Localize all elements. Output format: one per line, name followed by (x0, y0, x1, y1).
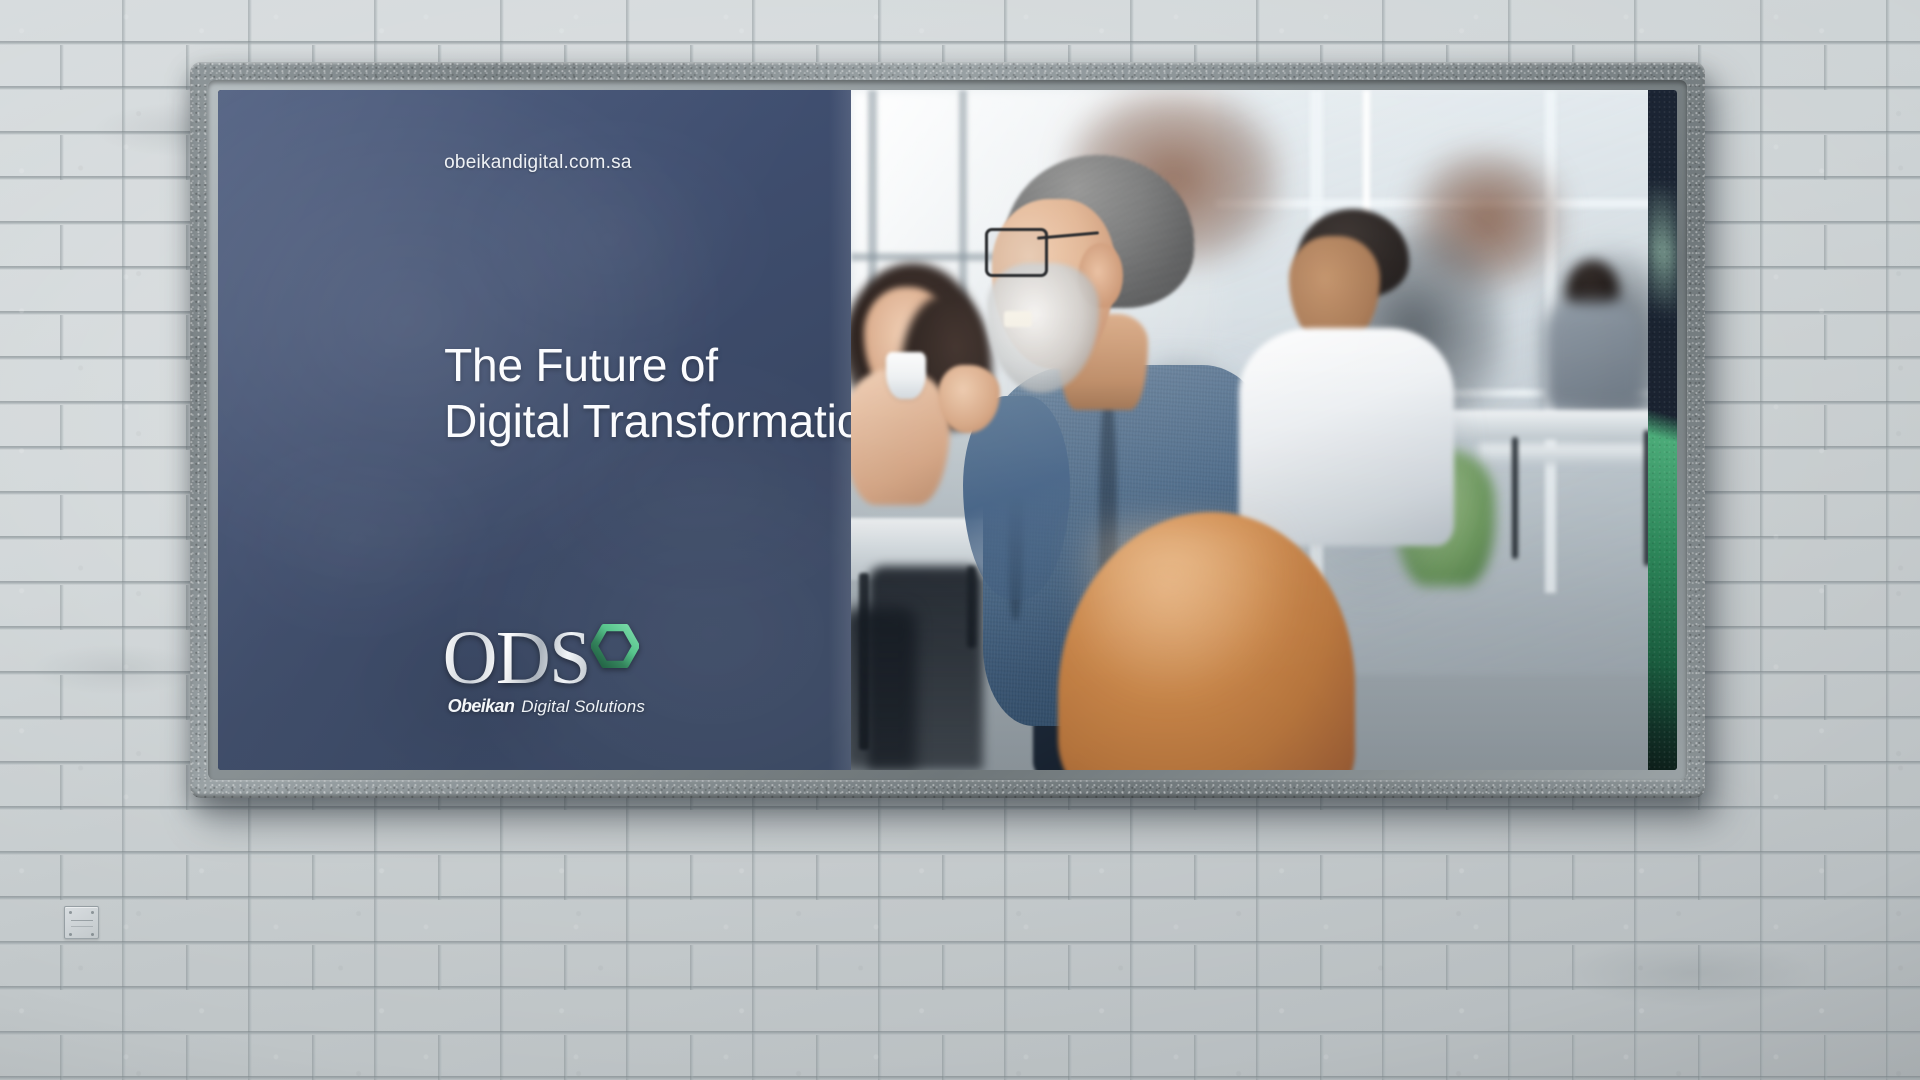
desk-leg (1512, 437, 1518, 559)
orange-chair-highlight (1082, 525, 1297, 702)
office-photograph (851, 90, 1677, 770)
background-person-body (1545, 301, 1644, 410)
woman-cup (886, 352, 926, 400)
man-eyeglasses (985, 228, 1048, 277)
logo-tagline-brand: Obeikan (448, 696, 515, 717)
accent-band-grain (1648, 90, 1677, 770)
billboard[interactable]: obeikandigital.com.sa The Future of Digi… (190, 62, 1705, 798)
headline-line-2: Digital Transformation (444, 393, 887, 449)
billboard-screen: obeikandigital.com.sa The Future of Digi… (218, 90, 1677, 770)
headline-line-1: The Future of (444, 336, 887, 392)
logo-tagline: Obeikan Digital Solutions (448, 696, 645, 717)
young-man-white-shirt (1239, 328, 1454, 546)
hexagon-ring-icon (591, 624, 639, 668)
logo-tagline-rest: Digital Solutions (521, 697, 645, 717)
ods-logo: ODS (443, 626, 645, 717)
website-url[interactable]: obeikandigital.com.sa (444, 152, 632, 174)
electrical-outlet-plate (64, 906, 99, 939)
foreground-chair-back (851, 607, 917, 770)
man-teeth (1004, 311, 1032, 327)
logo-wordmark-row: ODS (443, 626, 645, 691)
billboard-mockup-scene: obeikandigital.com.sa The Future of Digi… (0, 0, 1920, 1080)
accent-band (1648, 90, 1677, 770)
logo-wordmark: ODS (443, 626, 590, 691)
page-title: The Future of Digital Transformation (444, 336, 887, 448)
